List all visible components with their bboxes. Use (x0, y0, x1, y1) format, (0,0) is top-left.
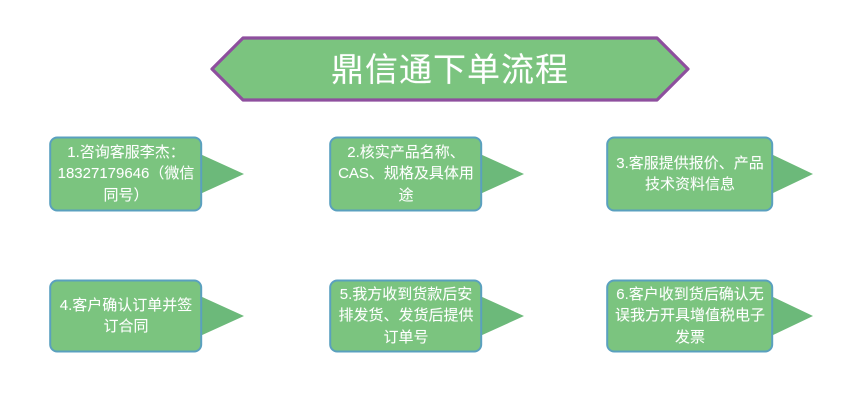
arrow-head-icon (480, 138, 524, 210)
step-1-contact-service[interactable]: 1.咨询客服李杰：18327179646（微信同号） (48, 132, 248, 216)
step-2-verify-product[interactable]: 2.核实产品名称、CAS、规格及具体用途 (328, 132, 528, 216)
step-3-label: 3.客服提供报价、产品技术资料信息 (613, 137, 767, 211)
flowchart-canvas: 鼎信通下单流程 1.咨询客服李杰：18327179646（微信同号） 2.核实产… (0, 0, 865, 417)
step-4-confirm-order[interactable]: 4.客户确认订单并签订合同 (48, 276, 248, 356)
step-3-quotation[interactable]: 3.客服提供报价、产品技术资料信息 (605, 132, 817, 216)
arrow-head-icon (771, 138, 813, 210)
page-title: 鼎信通下单流程 (210, 36, 690, 102)
arrow-head-icon (771, 280, 813, 352)
arrow-head-icon (480, 280, 524, 352)
step-6-label: 6.客户收到货后确认无误我方开具增值税电子发票 (613, 280, 767, 352)
arrow-head-icon (200, 280, 244, 352)
step-5-shipping[interactable]: 5.我方收到货款后安排发货、发货后提供订单号 (328, 276, 528, 356)
step-6-invoice[interactable]: 6.客户收到货后确认无误我方开具增值税电子发票 (605, 276, 817, 356)
step-5-label: 5.我方收到货款后安排发货、发货后提供订单号 (334, 280, 478, 352)
step-2-label: 2.核实产品名称、CAS、规格及具体用途 (334, 137, 478, 211)
arrow-head-icon (200, 138, 244, 210)
step-1-label: 1.咨询客服李杰：18327179646（微信同号） (56, 137, 196, 211)
title-banner: 鼎信通下单流程 (210, 36, 690, 102)
step-4-label: 4.客户确认订单并签订合同 (56, 280, 196, 352)
